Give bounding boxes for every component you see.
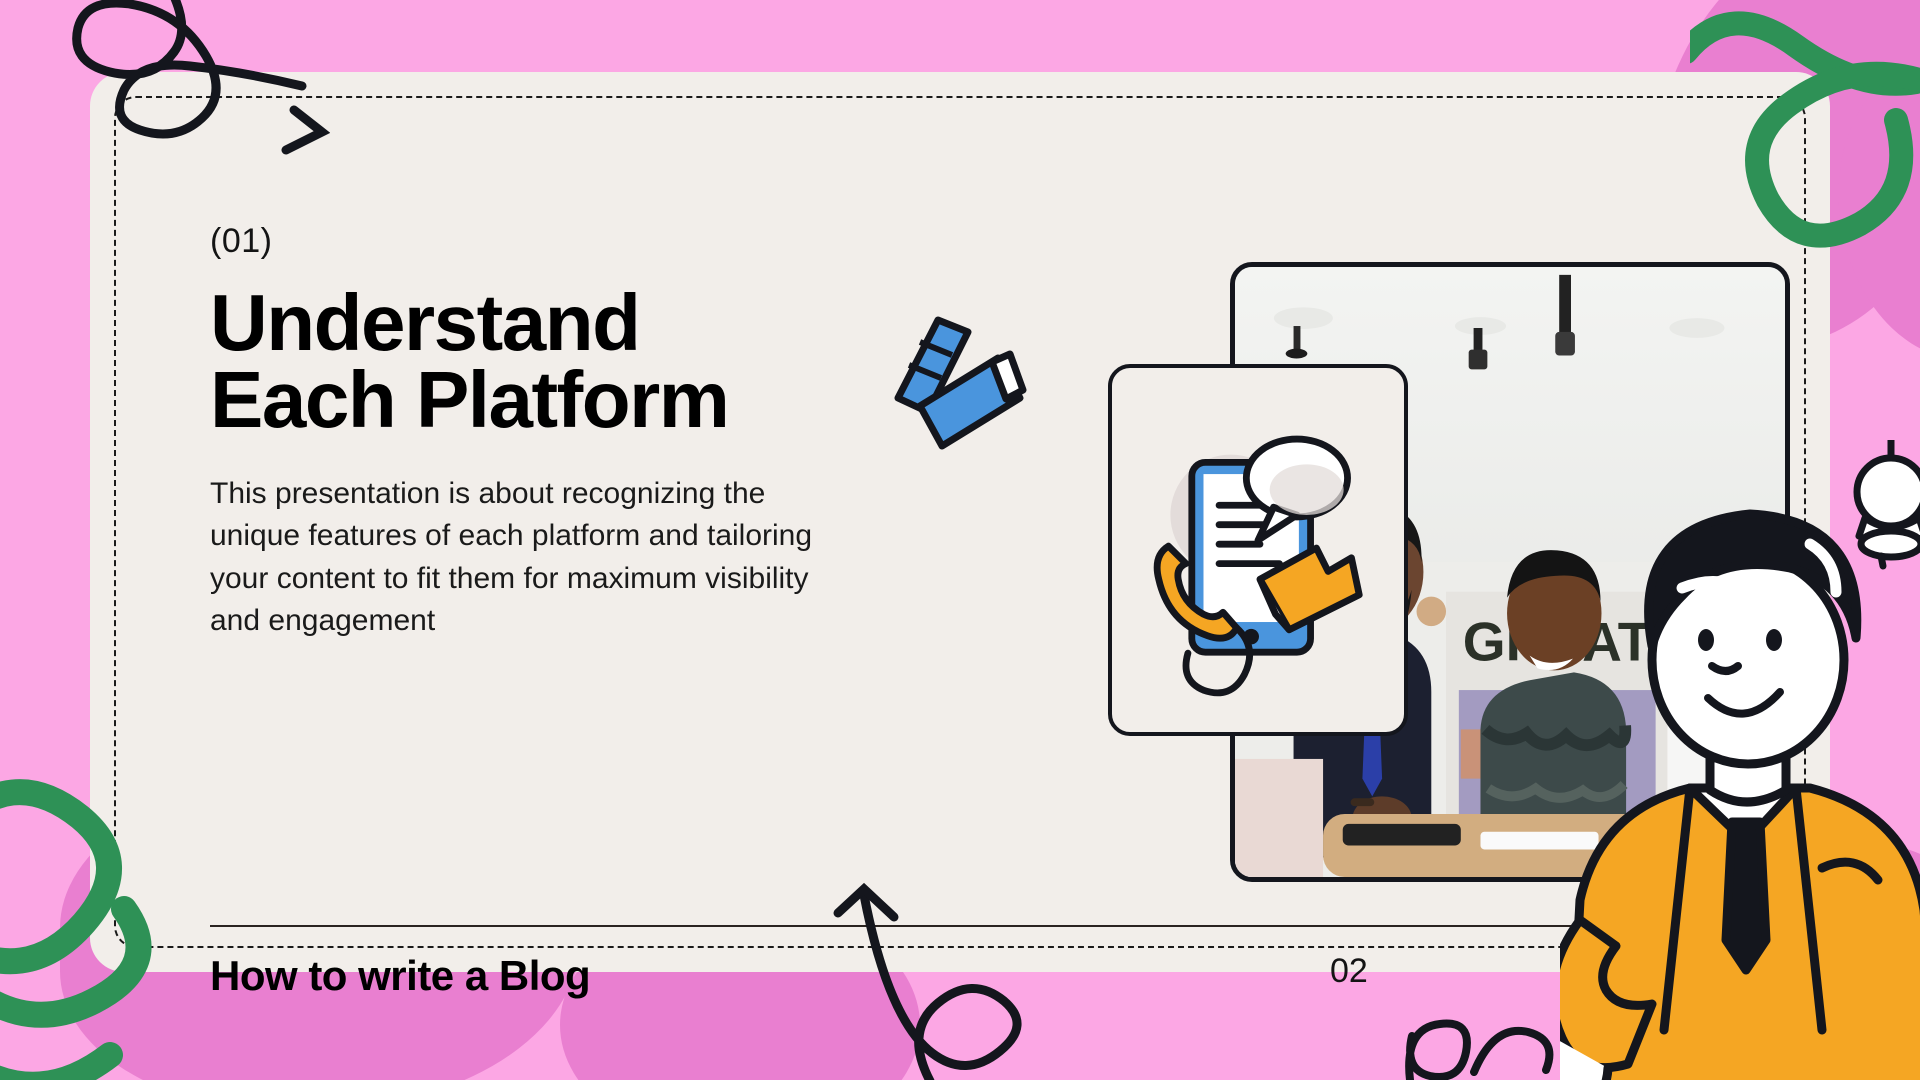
footer-divider <box>210 925 1710 927</box>
cartoon-character <box>1560 470 1920 1080</box>
clapperboard-icon <box>880 302 1030 452</box>
small-squiggle <box>1400 980 1580 1080</box>
footer-title: How to write a Blog <box>210 952 590 1000</box>
slide-canvas: (01) Understand Each Platform This prese… <box>0 0 1920 1080</box>
section-number: (01) <box>210 222 1000 261</box>
body-paragraph: This presentation is about recognizing t… <box>210 473 850 643</box>
illustration-card <box>1108 364 1408 736</box>
page-number: 02 <box>1330 952 1368 991</box>
